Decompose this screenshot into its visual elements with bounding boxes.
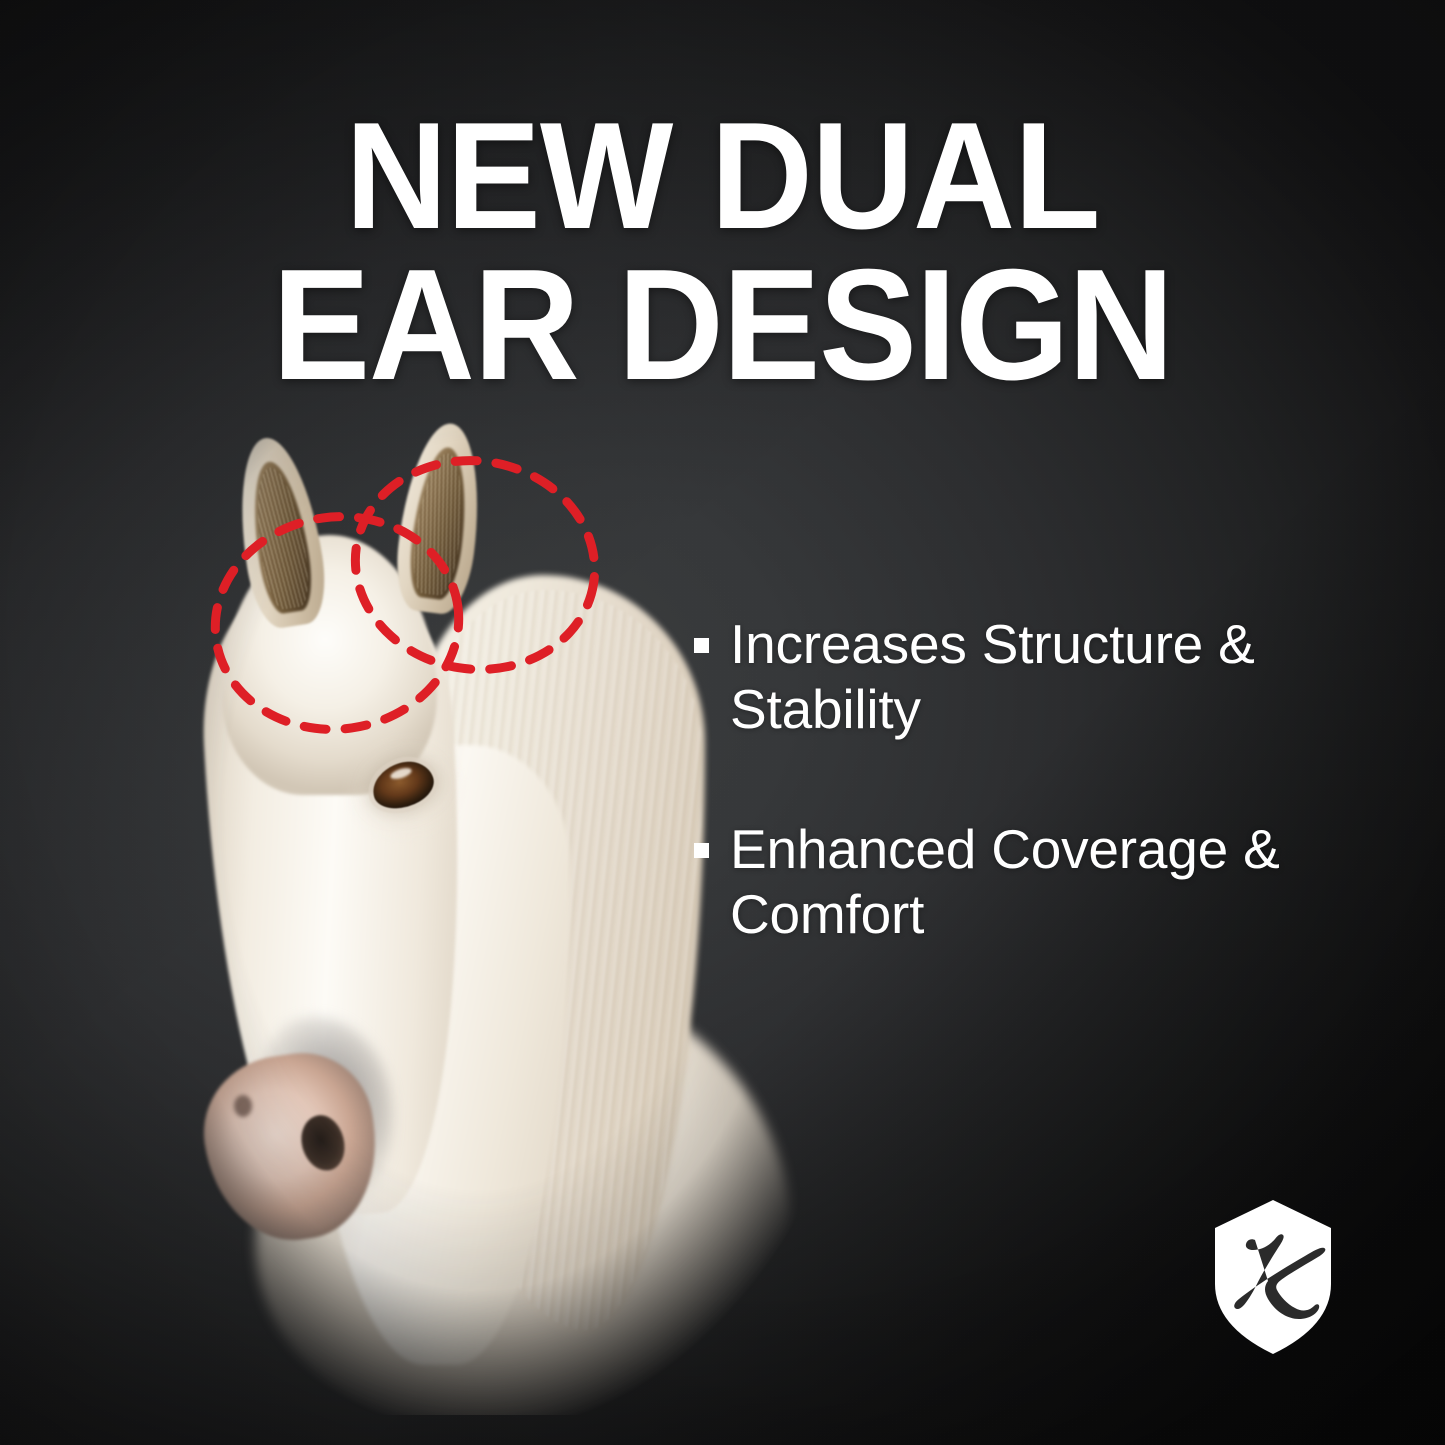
square-bullet-icon [694, 638, 709, 653]
square-bullet-icon [694, 843, 709, 858]
horse-ear-right [391, 419, 490, 617]
feature-bullet-list: Increases Structure & Stability Enhanced… [694, 612, 1354, 948]
horse-nostril-far [234, 1095, 252, 1117]
advertisement-canvas: NEW DUAL EAR DESIGN [0, 0, 1445, 1445]
bullet-text-1: Increases Structure & Stability [730, 612, 1330, 743]
list-item: Enhanced Coverage & Comfort [694, 817, 1354, 948]
shield-k-logo [1211, 1198, 1335, 1356]
list-item: Increases Structure & Stability [694, 612, 1354, 743]
bullet-text-2: Enhanced Coverage & Comfort [730, 817, 1330, 948]
